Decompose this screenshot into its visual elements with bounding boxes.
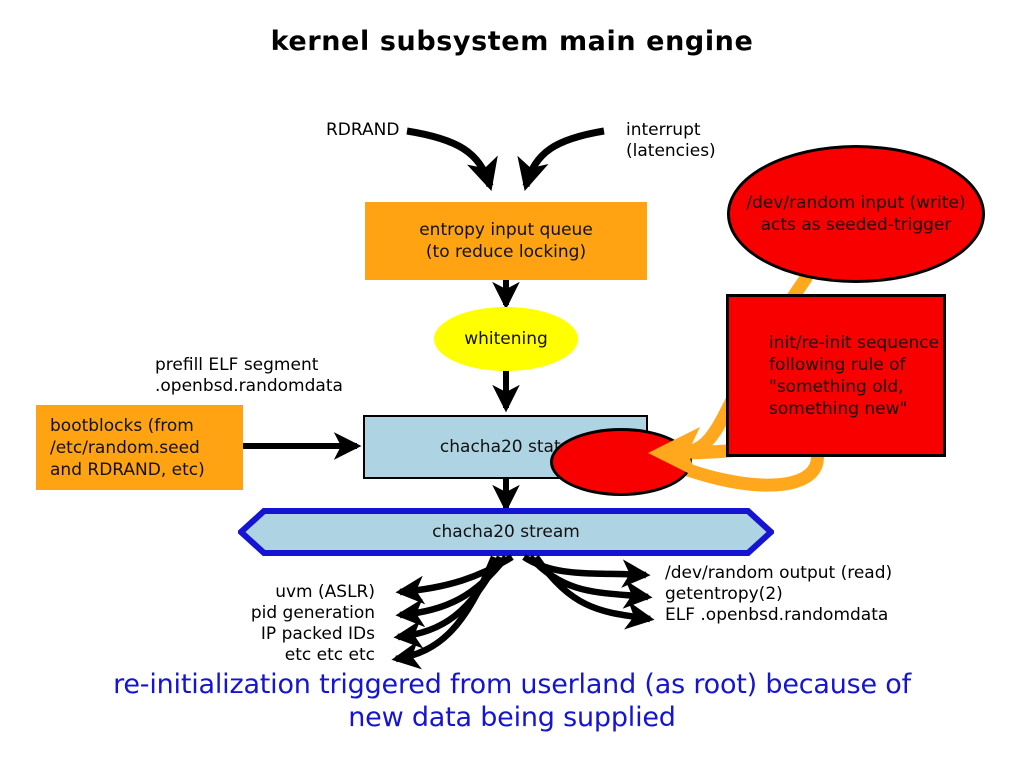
caption-line-2: new data being supplied <box>0 701 1024 734</box>
node-entropy-input-queue-label: entropy input queue (to reduce locking) <box>419 219 593 263</box>
node-entropy-input-queue[interactable]: entropy input queue (to reduce locking) <box>365 202 647 280</box>
diagram-canvas: kernel subsystem main engine <box>0 0 1024 768</box>
node-whitening-label: whitening <box>464 329 548 349</box>
output-label-right-1: getentropy(2) <box>665 584 783 605</box>
node-bootblocks-label: bootblocks (from /etc/random.seed and RD… <box>50 415 205 481</box>
input-label-interrupt: interrupt (latencies) <box>626 120 716 162</box>
node-bootblocks[interactable]: bootblocks (from /etc/random.seed and RD… <box>36 405 243 490</box>
caption-line-1: re-initialization triggered from userlan… <box>0 668 1024 701</box>
node-reinit-marker-ellipse[interactable] <box>550 428 692 496</box>
arrow-interrupt-to-queue <box>526 131 604 186</box>
arrow-rdrand-to-queue <box>407 131 490 186</box>
node-chacha20-stream[interactable]: chacha20 stream <box>238 508 774 556</box>
note-prefill-elf-segment: prefill ELF segment .openbsd.randomdata <box>155 355 343 397</box>
output-label-left-0: uvm (ASLR) <box>190 582 375 603</box>
node-dev-random-input-label: /dev/random input (write) acts as seeded… <box>746 192 965 236</box>
output-label-right-2: ELF .openbsd.randomdata <box>665 605 888 626</box>
output-label-left-2: IP packed IDs <box>190 624 375 645</box>
input-label-rdrand: RDRAND <box>326 120 399 141</box>
node-init-reinit-sequence-label: init/re-init sequence following rule of … <box>769 332 983 420</box>
output-label-left-1: pid generation <box>190 603 375 624</box>
node-dev-random-input[interactable]: /dev/random input (write) acts as seeded… <box>727 145 985 283</box>
node-whitening[interactable]: whitening <box>434 307 578 371</box>
node-init-reinit-sequence[interactable]: init/re-init sequence following rule of … <box>726 294 946 457</box>
output-label-right-0: /dev/random output (read) <box>665 563 892 584</box>
output-label-left-3: etc etc etc <box>190 645 375 666</box>
output-arrows-left <box>396 557 512 659</box>
output-arrows-right <box>524 557 650 619</box>
node-chacha20-stream-label: chacha20 stream <box>238 508 774 556</box>
page-title: kernel subsystem main engine <box>0 26 1024 57</box>
caption: re-initialization triggered from userlan… <box>0 668 1024 734</box>
